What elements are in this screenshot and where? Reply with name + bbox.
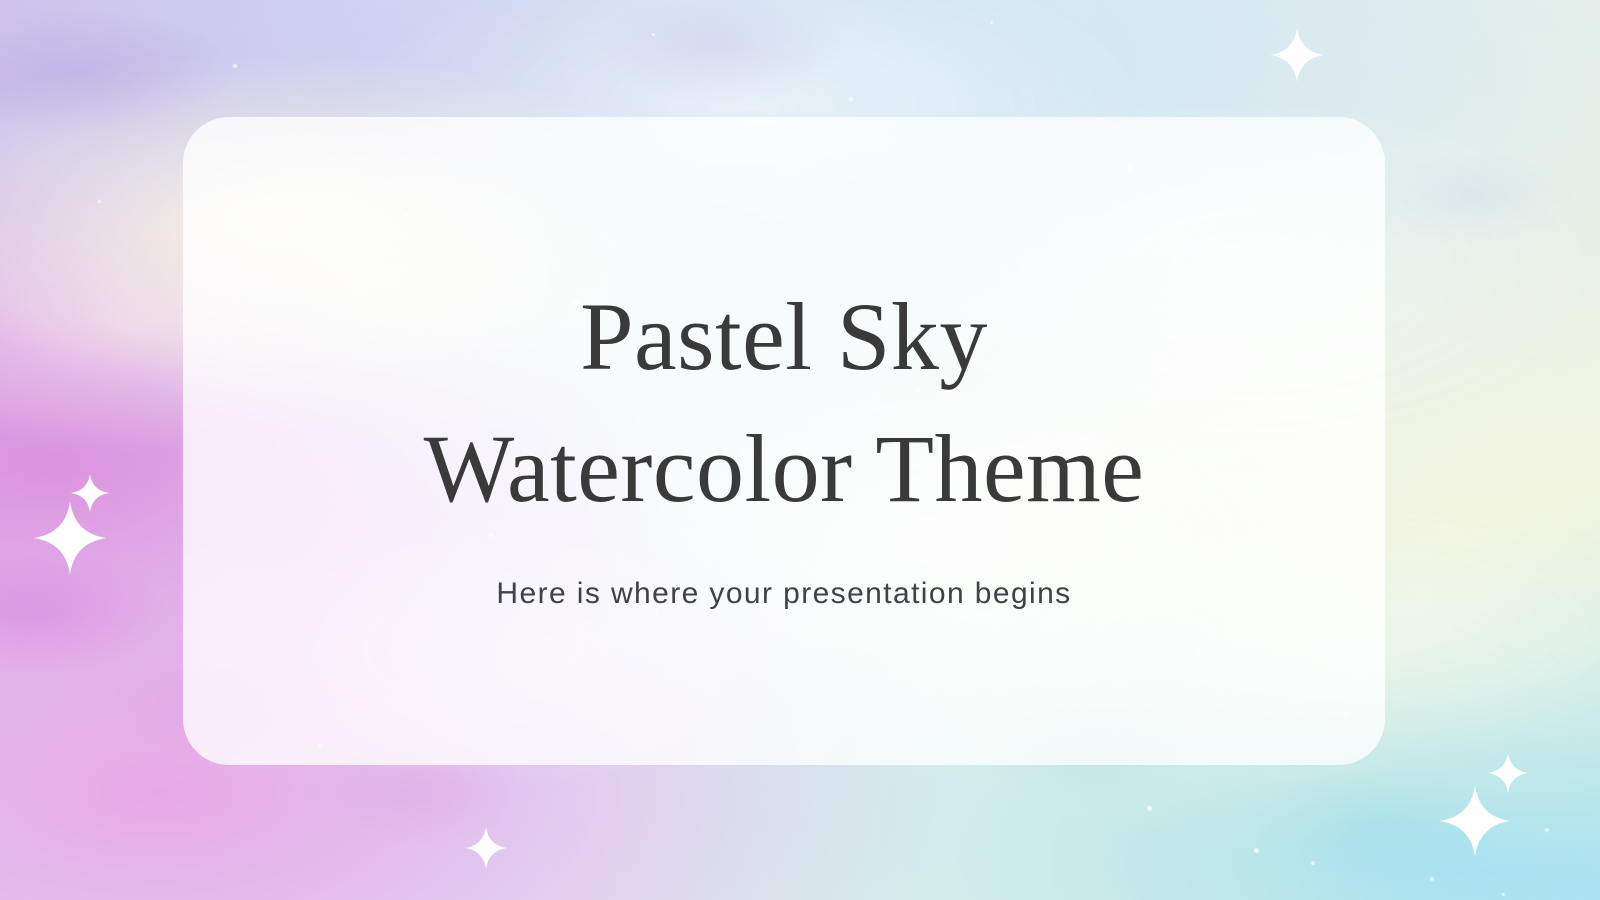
title-card: Pastel Sky Watercolor Theme Here is wher… xyxy=(183,117,1385,765)
subtitle-text: Here is where your presentation begins xyxy=(496,577,1071,611)
page-title: Pastel Sky Watercolor Theme xyxy=(404,271,1164,536)
presentation-slide: Pastel Sky Watercolor Theme Here is wher… xyxy=(0,0,1600,900)
